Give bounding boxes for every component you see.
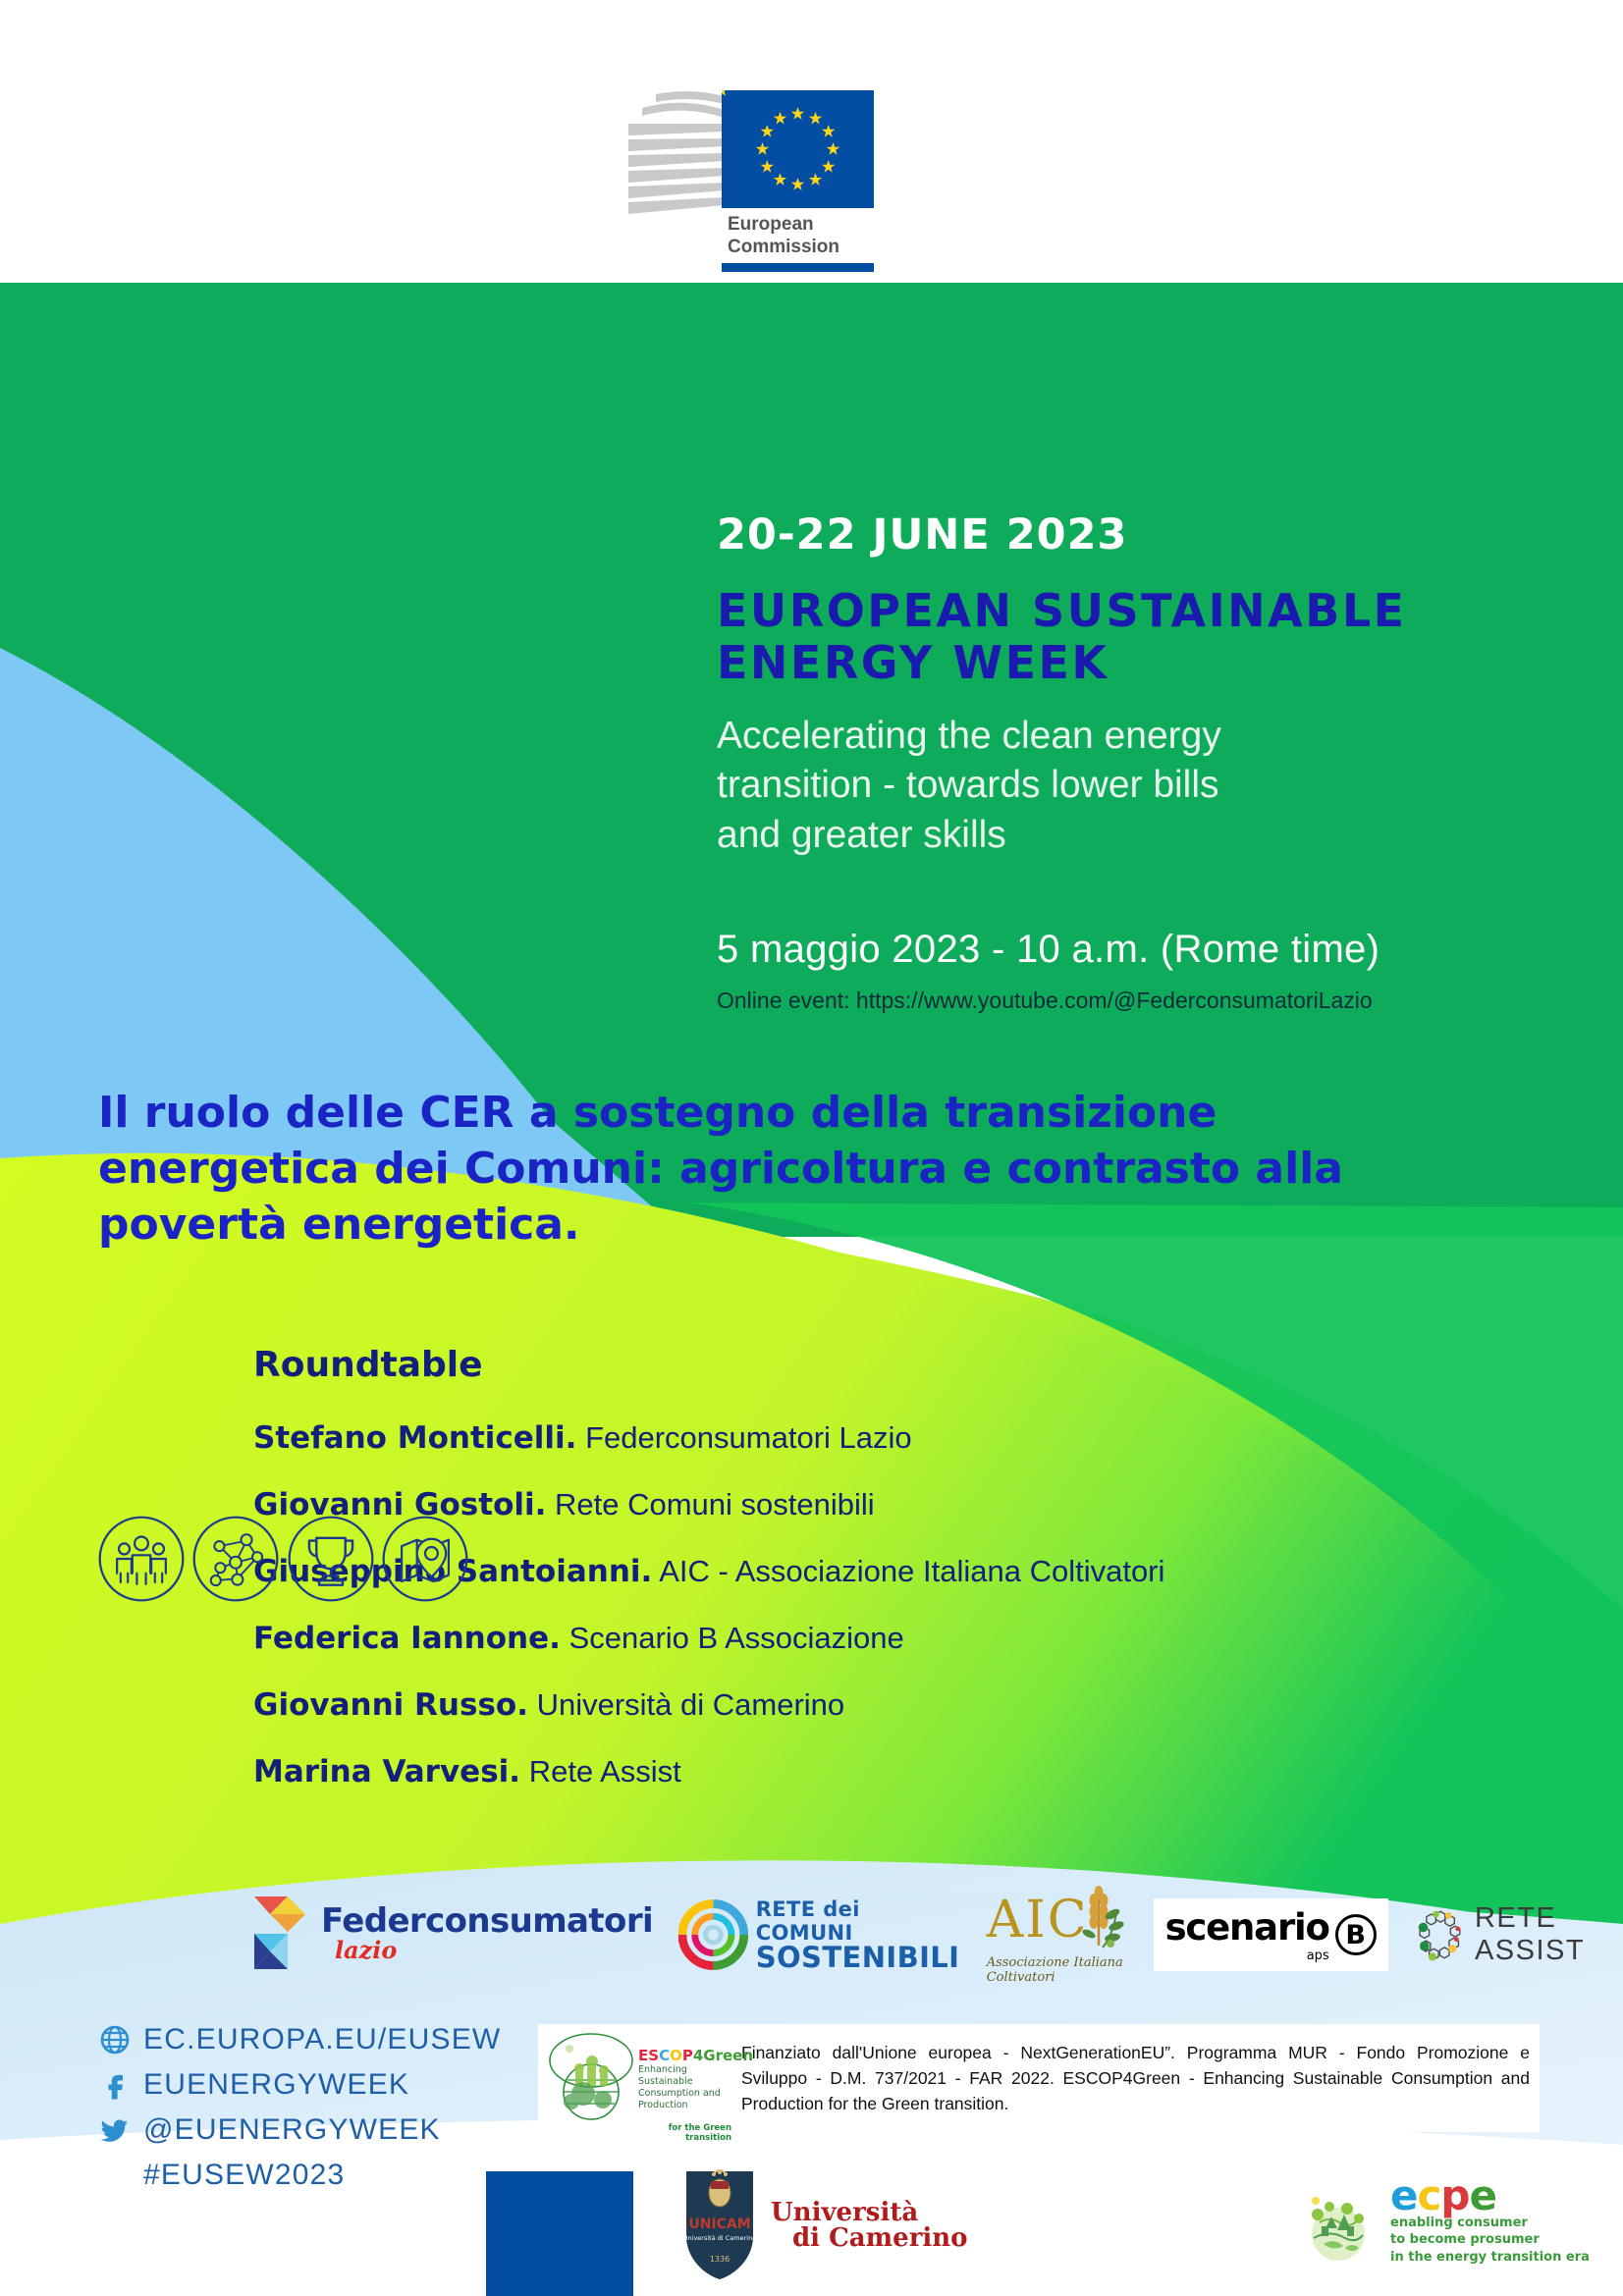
sdg-spiral-icon	[678, 1899, 748, 1970]
social-links-block: EC.EUROPA.EU/EUSEW EUENERGYWEEK @EUENERG…	[94, 2020, 501, 2201]
rete-comuni-sostenibili-logo: RETE dei COMUNI SOSTENIBILI	[678, 1897, 961, 1972]
social-row-website[interactable]: EC.EUROPA.EU/EUSEW	[94, 2020, 501, 2059]
escop4green-mark-icon	[548, 2031, 634, 2123]
escop4green-logo: ESCOP4Green Enhancing Sustainable Consum…	[548, 2031, 730, 2125]
funding-statement-box: ESCOP4Green Enhancing Sustainable Consum…	[538, 2024, 1540, 2132]
subtitle-line-3: and greater skills	[717, 811, 1502, 861]
escop-c: C	[659, 2047, 670, 2064]
scenario-b-badge: B	[1335, 1914, 1377, 1955]
title-line-2: ENERGY WEEK	[717, 637, 1502, 689]
speaker-affiliation: Federconsumatori Lazio	[585, 1420, 912, 1455]
ecpe-sub-line2: to become prosumer	[1390, 2231, 1590, 2249]
european-commission-logo: European Commission	[628, 90, 874, 272]
ecpe-logo: ecpe enabling consumer to become prosume…	[1296, 2177, 1590, 2266]
unicam-year-text: 1336	[710, 2255, 730, 2264]
ec-label-line2: Commission	[728, 236, 874, 258]
roundtable-heading: Roundtable	[253, 1345, 1530, 1385]
speaker-name: Marina Varvesi.	[253, 1754, 520, 1789]
website-label: EC.EUROPA.EU/EUSEW	[143, 2023, 501, 2056]
globe-icon	[94, 2025, 135, 2055]
ec-label-line1: European	[728, 213, 874, 236]
speaker-affiliation: AIC - Associazione Italiana Coltivatori	[659, 1554, 1164, 1588]
escop-es: ES	[638, 2047, 659, 2064]
event-subtitle: Accelerating the clean energy transition…	[717, 712, 1502, 861]
speaker-affiliation: Scenario B Associazione	[569, 1621, 904, 1655]
twitter-label: @EUENERGYWEEK	[143, 2113, 441, 2147]
escop-sub-line2: Consumption and Production	[638, 2088, 731, 2111]
unicam-shield-icon: UNICAM Università di Camerino 1336	[682, 2167, 757, 2283]
rete-comuni-line2: SOSTENIBILI	[756, 1945, 961, 1972]
eu-flag-icon	[722, 90, 874, 208]
network-nodes-icon	[190, 1514, 281, 1604]
speaker-name: Federica Iannone.	[253, 1621, 561, 1656]
facebook-icon	[94, 2070, 135, 2100]
topic-line-3: povertà energetica.	[98, 1197, 1532, 1253]
event-dates: 20-22 JUNE 2023	[717, 510, 1502, 560]
social-row-facebook[interactable]: EUENERGYWEEK	[94, 2065, 501, 2105]
speaker-affiliation: Università di Camerino	[537, 1687, 845, 1722]
speaker-affiliation: Rete Assist	[529, 1754, 681, 1789]
event-topic-title: Il ruolo delle CER a sostegno della tran…	[98, 1085, 1532, 1254]
speaker-row: Stefano Monticelli. Federconsumatori Laz…	[253, 1420, 1530, 1456]
partner-logos-strip: Federconsumatori lazio RETE dei COMUNI S…	[250, 1877, 1556, 1993]
event-datetime: 5 maggio 2023 - 10 a.m. (Rome time)	[717, 928, 1502, 972]
aic-subtitle: Associazione Italiana Coltivatori	[987, 1955, 1128, 1985]
hashtag-label: #EUSEW2023	[143, 2159, 345, 2192]
people-group-icon	[96, 1514, 187, 1604]
eusew-headline-block: 20-22 JUNE 2023 EUROPEAN SUSTAINABLE ENE…	[717, 510, 1502, 1014]
social-row-hashtag: #EUSEW2023	[94, 2156, 501, 2195]
escop4green-name: ESCOP4Green	[638, 2047, 731, 2064]
escop-4green: 4Green	[693, 2047, 753, 2064]
ecpe-sub-line3: in the energy transition era	[1390, 2249, 1590, 2267]
federconsumatori-mark-icon	[250, 1893, 311, 1977]
ecpe-sub-line1: enabling consumer	[1390, 2215, 1590, 2232]
topic-line-1: Il ruolo delle CER a sostegno della tran…	[98, 1085, 1532, 1141]
title-line-1: EUROPEAN SUSTAINABLE	[717, 585, 1502, 637]
map-location-pin-icon	[380, 1514, 470, 1604]
rete-assist-name: RETE ASSIST	[1475, 1902, 1610, 1967]
speaker-row: Giovanni Russo. Università di Camerino	[253, 1687, 1530, 1723]
page-title: EUROPEAN SUSTAINABLE ENERGY WEEK	[717, 585, 1502, 690]
speaker-affiliation: Rete Comuni sostenibili	[555, 1487, 875, 1522]
federconsumatori-lazio-logo: Federconsumatori lazio	[250, 1893, 653, 1977]
subtitle-line-1: Accelerating the clean energy	[717, 712, 1502, 762]
subtitle-line-2: transition - towards lower bills	[717, 761, 1502, 811]
trophy-icon	[286, 1514, 376, 1604]
speaker-row: Marina Varvesi. Rete Assist	[253, 1754, 1530, 1789]
universita-camerino-wordmark: Università di Camerino	[771, 2200, 968, 2251]
aic-logo: AIC Associazione Italiana	[987, 1885, 1128, 1985]
side-icon-column	[96, 1514, 470, 1615]
ec-logo-label: European Commission	[722, 208, 874, 272]
escop-p: P	[682, 2047, 693, 2064]
universita-line2: di Camerino	[792, 2225, 968, 2251]
wheat-olive-icon	[1073, 1885, 1128, 1955]
ecpe-letter-c: c	[1418, 2171, 1441, 2219]
speaker-name: Stefano Monticelli.	[253, 1420, 576, 1456]
speaker-row: Federica Iannone. Scenario B Associazion…	[253, 1621, 1530, 1656]
unicam-sub-text: Università di Camerino	[683, 2234, 756, 2242]
federconsumatori-name: Federconsumatori	[321, 1905, 653, 1937]
ecpe-wordmark: ecpe	[1390, 2177, 1590, 2215]
unicam-acronym-text: UNICAM	[688, 2216, 750, 2232]
escop-tagline: for the Green transition	[638, 2123, 731, 2143]
social-row-twitter[interactable]: @EUENERGYWEEK	[94, 2110, 501, 2150]
speaker-name: Giovanni Russo.	[253, 1687, 528, 1723]
hex-network-icon	[1414, 1895, 1467, 1975]
topic-line-2: energetica dei Comuni: agricoltura e con…	[98, 1141, 1532, 1197]
ecpe-letter-e2: e	[1469, 2171, 1496, 2219]
twitter-icon	[94, 2115, 135, 2145]
scenario-b-logo: scenario aps B	[1154, 1898, 1388, 1971]
ecpe-letter-p: p	[1440, 2171, 1469, 2219]
universita-line1: Università	[771, 2200, 968, 2225]
rete-assist-logo: RETE ASSIST	[1414, 1895, 1610, 1975]
ecpe-letter-e1: e	[1390, 2171, 1418, 2219]
rete-comuni-line1: RETE dei COMUNI	[756, 1897, 961, 1945]
funding-text: Finanziato dall'Unione europea - NextGen…	[730, 2040, 1530, 2117]
scenario-word: scenario	[1165, 1906, 1329, 1949]
online-event-link[interactable]: Online event: https://www.youtube.com/@F…	[717, 988, 1502, 1014]
facebook-label: EUENERGYWEEK	[143, 2068, 409, 2102]
blue-square-placeholder	[486, 2171, 633, 2296]
ecpe-globe-icon	[1296, 2179, 1380, 2264]
escop-o: O	[670, 2047, 682, 2064]
escop-sub-line1: Enhancing Sustainable	[638, 2064, 731, 2088]
scenario-aps: aps	[1165, 1949, 1329, 1963]
unicam-logo: UNICAM Università di Camerino 1336 Unive…	[682, 2167, 968, 2283]
